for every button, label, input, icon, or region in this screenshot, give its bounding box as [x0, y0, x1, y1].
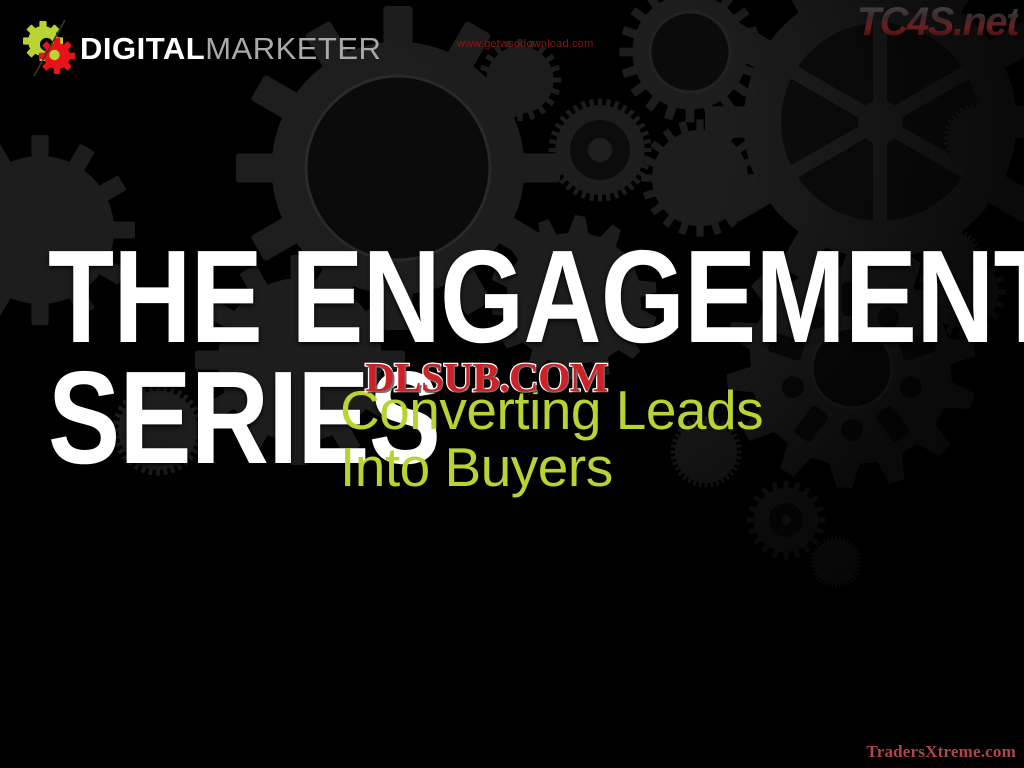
- brand-name-light: MARKETER: [205, 31, 381, 66]
- brand-name-bold: DIGITAL: [80, 31, 205, 66]
- watermark-getwsodownload: www.getwsodownload.com: [457, 38, 593, 50]
- watermark-tradersxtreme: TradersXtreme.com: [866, 742, 1016, 762]
- headline-line-1: THE ENGAGEMENT: [48, 232, 786, 361]
- subtitle-line-2: Into Buyers: [340, 439, 900, 496]
- two-gears-icon: [22, 20, 78, 76]
- slide-canvas: DIGITALMARKETER THE ENGAGEMENT SERIES Co…: [0, 0, 1024, 768]
- watermark-dlsub: DLSUB.COM: [365, 357, 608, 398]
- watermark-tc4s: TC4S.net: [857, 2, 1018, 42]
- brand-logo[interactable]: DIGITALMARKETER: [22, 16, 381, 80]
- brand-wordmark: DIGITALMARKETER: [80, 33, 381, 64]
